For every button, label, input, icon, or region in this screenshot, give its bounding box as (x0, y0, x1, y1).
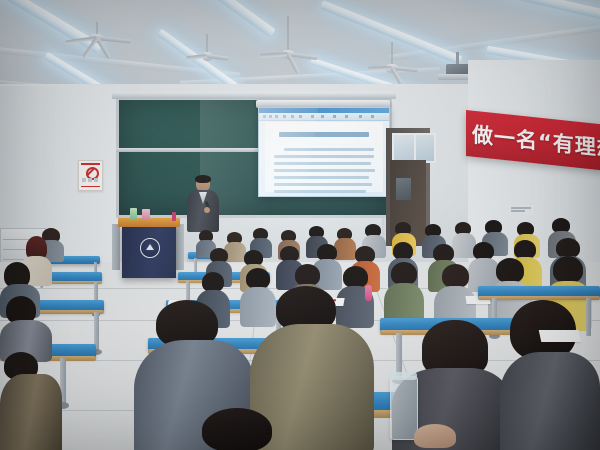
attendee-hair (202, 408, 272, 450)
attendee (0, 352, 62, 450)
podium-emblem-icon (140, 238, 160, 258)
podium-item-box (142, 209, 150, 220)
podium-side-panel (176, 224, 184, 270)
wall-sign (508, 205, 534, 215)
podium-side-panel (112, 224, 120, 270)
door-window (396, 178, 411, 200)
presenter-hair (195, 175, 211, 183)
attendee-hand (414, 424, 456, 448)
podium-item-marker (172, 212, 176, 221)
water-bottle (390, 376, 418, 440)
ceiling-fan (258, 16, 318, 44)
attendee (384, 262, 424, 322)
desk-paper (539, 330, 582, 342)
ceiling-fan (366, 42, 418, 66)
attendee (500, 300, 600, 450)
classroom-photo: 做一名“有理想信 (0, 0, 600, 450)
chalkboard-track (112, 92, 396, 99)
presenter-hand (204, 207, 210, 213)
podium-item-bottle (130, 208, 137, 220)
door-transom-window (392, 133, 436, 163)
attendee (186, 408, 296, 450)
attendee (0, 296, 52, 356)
projection-screen (258, 107, 390, 197)
ceiling-fan (62, 22, 132, 52)
attendee (434, 264, 476, 324)
bottle-cap (389, 372, 417, 380)
attendee-torso (500, 352, 600, 450)
ceiling-fan (182, 34, 232, 56)
presenter (186, 176, 220, 232)
no-smoking-poster (78, 160, 103, 191)
